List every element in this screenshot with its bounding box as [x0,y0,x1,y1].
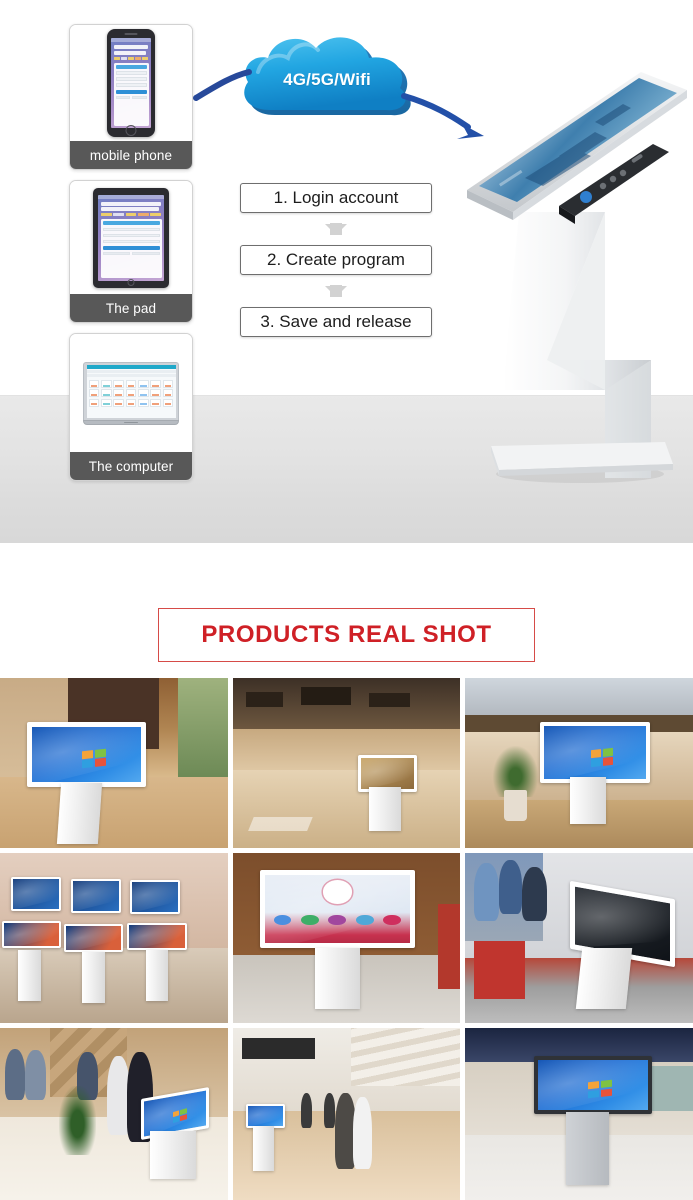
device-card-the-pad[interactable]: The pad [69,180,193,323]
tablet-icon [93,188,169,288]
photo-thumbnail[interactable] [233,1028,461,1200]
phone-icon [107,29,155,137]
photo-thumbnail[interactable] [465,853,693,1023]
laptop-thumbnail [70,334,192,452]
real-shot-section: PRODUCTS REAL SHOT [0,560,693,1200]
step-connector-2 [240,275,432,307]
cloud-network-badge: 4G/5G/Wifi [236,24,418,118]
mobile-phone-thumbnail [70,25,192,141]
laptop-icon [83,362,179,425]
workflow-steps: 1. Login account 2. Create program 3. Sa… [240,183,432,337]
device-label-the-pad: The pad [70,294,192,322]
solution-diagram: mobile phone The pad [0,0,693,560]
photo-thumbnail[interactable] [0,1028,228,1200]
device-card-the-computer[interactable]: The computer [69,333,193,481]
step-label-1: 1. Login account [274,188,399,208]
kiosk-illustration [455,60,693,500]
step-connector-1 [240,213,432,245]
step-label-3: 3. Save and release [260,312,411,332]
photo-thumbnail[interactable] [233,853,461,1023]
photo-thumbnail[interactable] [465,678,693,848]
real-shot-title-wrap: PRODUCTS REAL SHOT [0,560,693,678]
device-label-mobile-phone: mobile phone [70,141,192,169]
real-shot-title: PRODUCTS REAL SHOT [158,608,534,662]
tablet-thumbnail [70,181,192,294]
photo-thumbnail[interactable] [465,1028,693,1200]
kiosk-hero-image [455,60,693,500]
photo-thumbnail[interactable] [233,678,461,848]
photo-thumbnail[interactable] [0,853,228,1023]
cloud-label: 4G/5G/Wifi [236,70,418,90]
device-label-the-computer: The computer [70,452,192,480]
step-box-1[interactable]: 1. Login account [240,183,432,213]
step-box-3[interactable]: 3. Save and release [240,307,432,337]
device-card-mobile-phone[interactable]: mobile phone [69,24,193,170]
photo-thumbnail[interactable] [0,678,228,848]
step-label-2: 2. Create program [267,250,405,270]
step-box-2[interactable]: 2. Create program [240,245,432,275]
photo-grid [0,678,693,1200]
